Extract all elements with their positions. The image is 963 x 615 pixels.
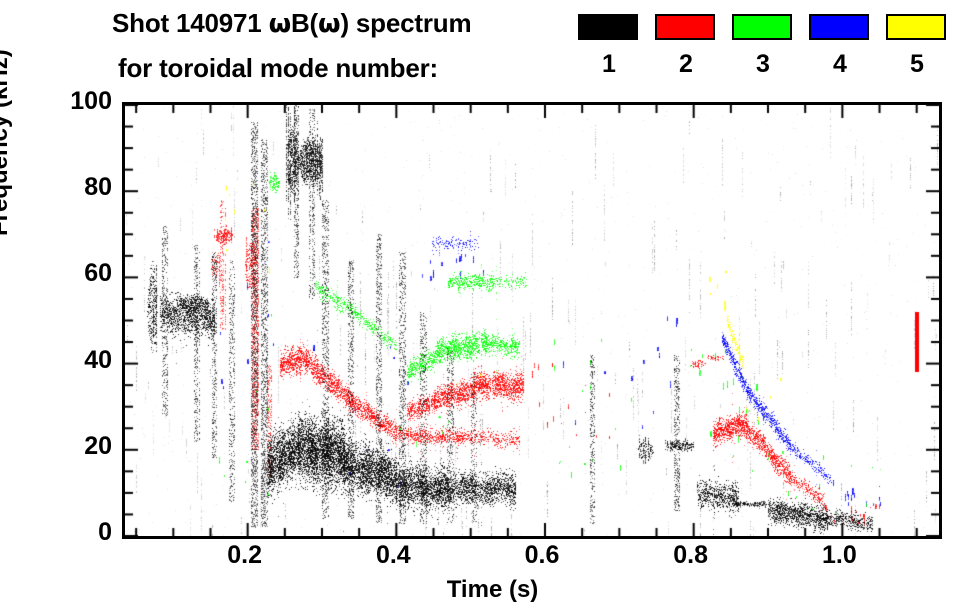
mode-number-legend: 12345 xyxy=(578,14,963,94)
legend-swatch-n3 xyxy=(732,14,792,40)
legend-item-n2: 2 xyxy=(655,14,717,77)
x-axis-label: Time (s) xyxy=(0,576,963,604)
legend-item-n4: 4 xyxy=(809,14,871,77)
omega-symbol-1: ω xyxy=(269,9,291,39)
figure-title-line2: for toroidal mode number: xyxy=(118,53,438,84)
legend-swatch-n2 xyxy=(655,14,715,40)
title-mid: B( xyxy=(291,8,318,38)
y-tick-20: 20 xyxy=(32,434,112,459)
legend-swatch-n4 xyxy=(809,14,869,40)
x-axis-tick-labels: 0.20.40.60.81.0 xyxy=(122,543,936,577)
legend-label-n2: 2 xyxy=(655,52,717,77)
x-tick-0.2: 0.2 xyxy=(195,543,295,568)
y-tick-40: 40 xyxy=(32,348,112,373)
y-tick-80: 80 xyxy=(32,175,112,200)
legend-swatch-n5 xyxy=(886,14,946,40)
legend-item-n1: 1 xyxy=(578,14,640,77)
x-tick-0.4: 0.4 xyxy=(343,543,443,568)
y-tick-60: 60 xyxy=(32,261,112,286)
legend-label-n5: 5 xyxy=(886,52,948,77)
y-axis-label: Frequency (kHz) xyxy=(0,0,14,236)
title-suffix: ) spectrum xyxy=(340,8,471,38)
figure-title-line1: Shot 140971 ωB(ω) spectrum xyxy=(112,8,471,39)
x-tick-0.8: 0.8 xyxy=(641,543,741,568)
legend-swatch-n1 xyxy=(578,14,638,40)
spectrogram-plot-area xyxy=(125,105,939,536)
omega-symbol-2: ω xyxy=(318,9,340,39)
x-tick-0.6: 0.6 xyxy=(492,543,592,568)
y-axis-tick-labels: 020406080100 xyxy=(24,102,112,533)
plot-frame xyxy=(122,102,942,539)
title-prefix: Shot 140971 xyxy=(112,8,269,38)
legend-label-n3: 3 xyxy=(732,52,794,77)
spectrogram-figure: Shot 140971 ωB(ω) spectrum for toroidal … xyxy=(0,0,963,615)
y-tick-0: 0 xyxy=(32,520,112,545)
legend-item-n3: 3 xyxy=(732,14,794,77)
y-tick-100: 100 xyxy=(32,89,112,114)
legend-label-n1: 1 xyxy=(578,52,640,77)
x-tick-1.0: 1.0 xyxy=(789,543,889,568)
x-axis-label-text: Time (s) xyxy=(447,576,539,603)
legend-label-n4: 4 xyxy=(809,52,871,77)
legend-item-n5: 5 xyxy=(886,14,948,77)
